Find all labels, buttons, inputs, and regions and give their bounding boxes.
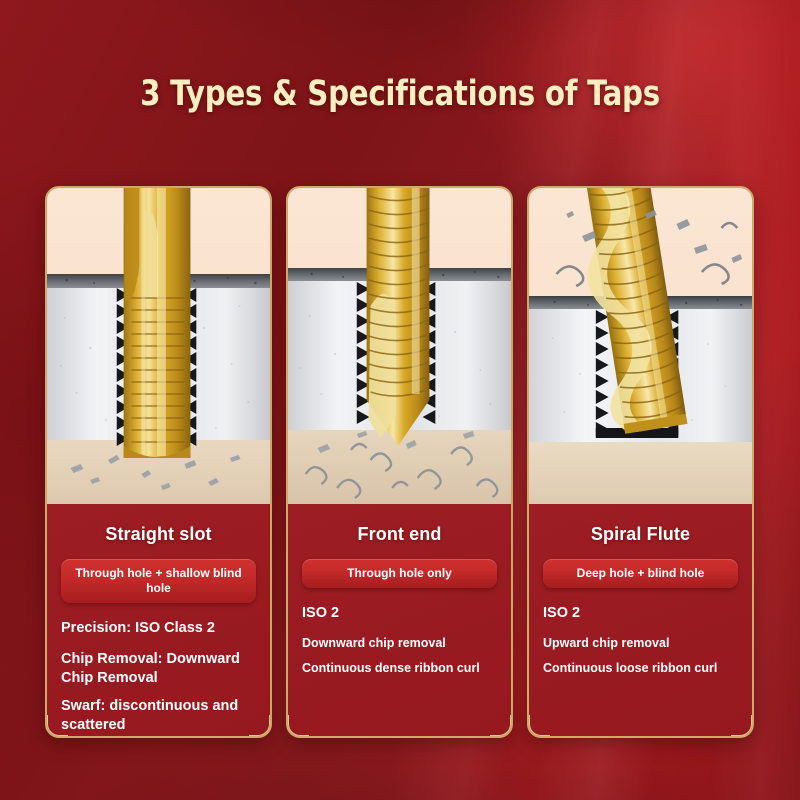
corner-notch-bottom-right-icon: [731, 715, 753, 737]
tap-card-spiral-flute[interactable]: Spiral Flute Deep hole + blind hole ISO …: [527, 186, 754, 738]
straight-slot-illustration: [47, 188, 270, 504]
precision-spec: ISO 2: [302, 604, 497, 622]
front-end-illustration: [288, 188, 511, 504]
hole-type-badge[interactable]: Through hole + shallow blind hole: [61, 559, 256, 603]
hole-type-badge[interactable]: Deep hole + blind hole: [543, 559, 738, 588]
page-title: 3 Types & Specifications of Taps: [28, 74, 772, 114]
spiral-flute-info: Spiral Flute Deep hole + blind hole ISO …: [529, 504, 752, 677]
spec-swarf: Continuous loose ribbon curl: [543, 660, 738, 676]
corner-notch-bottom-left-icon: [528, 715, 550, 737]
precision-spec: ISO 2: [543, 604, 738, 622]
spec-chip-removal: Chip Removal: Downward Chip Removal: [61, 650, 256, 688]
tap-type-card-row: Straight slot Through hole + shallow bli…: [45, 186, 755, 738]
hole-type-badge[interactable]: Through hole only: [302, 559, 497, 588]
front-end-info: Front end Through hole only ISO 2 Downwa…: [288, 504, 511, 677]
card-title: Straight slot: [61, 524, 256, 545]
spiral-flute-illustration: [529, 188, 752, 504]
card-title: Spiral Flute: [543, 524, 738, 545]
straight-slot-info: Straight slot Through hole + shallow bli…: [47, 504, 270, 735]
spec-swarf: Swarf: discontinuous and scattered: [61, 697, 256, 735]
spec-chip-removal: Downward chip removal: [302, 635, 497, 651]
precision-spec: Precision: ISO Class 2: [61, 619, 256, 637]
corner-notch-bottom-right-icon: [490, 715, 512, 737]
tap-card-front-end[interactable]: Front end Through hole only ISO 2 Downwa…: [286, 186, 513, 738]
card-title: Front end: [302, 524, 497, 545]
corner-notch-bottom-left-icon: [287, 715, 309, 737]
spec-chip-removal: Upward chip removal: [543, 635, 738, 651]
spec-swarf: Continuous dense ribbon curl: [302, 660, 497, 676]
tap-card-straight-slot[interactable]: Straight slot Through hole + shallow bli…: [45, 186, 272, 738]
